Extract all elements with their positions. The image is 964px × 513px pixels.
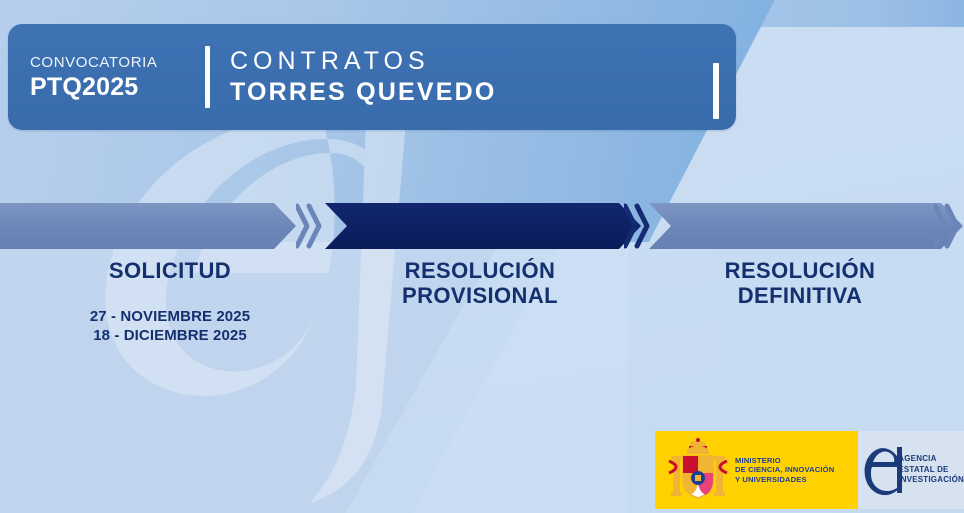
timeline-arrow-solicitud[interactable]	[0, 203, 296, 249]
agencia-line-3: INVESTIGACIÓN	[898, 475, 964, 486]
gobierno-line-3: Y UNIVERSIDADES	[735, 475, 834, 485]
header-divider-left	[205, 46, 210, 108]
header-divider-right	[713, 63, 719, 119]
agencia-line-2: ESTATAL DE	[898, 465, 964, 476]
gobierno-de-espana-logo: MINISTERIO DE CIENCIA, INNOVACIÓN Y UNIV…	[655, 431, 858, 509]
double-chevron-right-icon	[296, 203, 322, 249]
header-banner: CONVOCATORIA PTQ2025 CONTRATOS TORRES QU…	[8, 24, 736, 130]
double-chevron-right-icon	[934, 203, 960, 249]
page-title-line2: TORRES QUEVEDO	[230, 77, 497, 108]
convocatoria-code: PTQ2025	[30, 73, 205, 102]
agencia-estatal-investigacion-logo: AGENCIA ESTATAL DE INVESTIGACIÓN	[858, 431, 964, 509]
stage-name-line1: RESOLUCIÓN	[335, 258, 625, 283]
stage-date-line-1: 27 - NOVIEMBRE 2025	[30, 307, 310, 326]
gobierno-line-2: DE CIENCIA, INNOVACIÓN	[735, 465, 834, 475]
agencia-line-1: AGENCIA	[898, 454, 964, 465]
stage-name-solicitud: SOLICITUD	[30, 258, 310, 283]
convocatoria-block: CONVOCATORIA PTQ2025	[8, 53, 205, 102]
stage-label-resolucion-definitiva: RESOLUCIÓN DEFINITIVA	[655, 258, 945, 308]
gobierno-line-1: MINISTERIO	[735, 456, 834, 466]
stage-label-solicitud: SOLICITUD 27 - NOVIEMBRE 2025 18 - DICIE…	[30, 258, 310, 345]
stage-name-line2: DEFINITIVA	[655, 283, 945, 308]
stage-name-line1: RESOLUCIÓN	[655, 258, 945, 283]
convocatoria-label: CONVOCATORIA	[30, 53, 205, 72]
poster-canvas: CONVOCATORIA PTQ2025 CONTRATOS TORRES QU…	[0, 0, 964, 513]
spain-coat-of-arms-icon	[667, 437, 729, 503]
header-title-block: CONTRATOS TORRES QUEVEDO	[230, 46, 497, 108]
stage-dates-solicitud: 27 - NOVIEMBRE 2025 18 - DICIEMBRE 2025	[30, 307, 310, 345]
stage-label-resolucion-provisional: RESOLUCIÓN PROVISIONAL	[335, 258, 625, 308]
agencia-logo-text: AGENCIA ESTATAL DE INVESTIGACIÓN	[898, 454, 964, 486]
stage-name-line2: PROVISIONAL	[335, 283, 625, 308]
timeline-arrow-resolucion-provisional[interactable]	[325, 203, 641, 249]
double-chevron-right-icon	[624, 203, 650, 249]
page-title-line1: CONTRATOS	[230, 46, 497, 76]
gobierno-logo-text: MINISTERIO DE CIENCIA, INNOVACIÓN Y UNIV…	[735, 456, 834, 485]
stage-date-line-2: 18 - DICIEMBRE 2025	[30, 326, 310, 345]
timeline-arrow-resolucion-definitiva[interactable]	[649, 203, 963, 249]
timeline-track	[0, 203, 964, 249]
aei-vertical-bar-icon	[897, 447, 902, 493]
